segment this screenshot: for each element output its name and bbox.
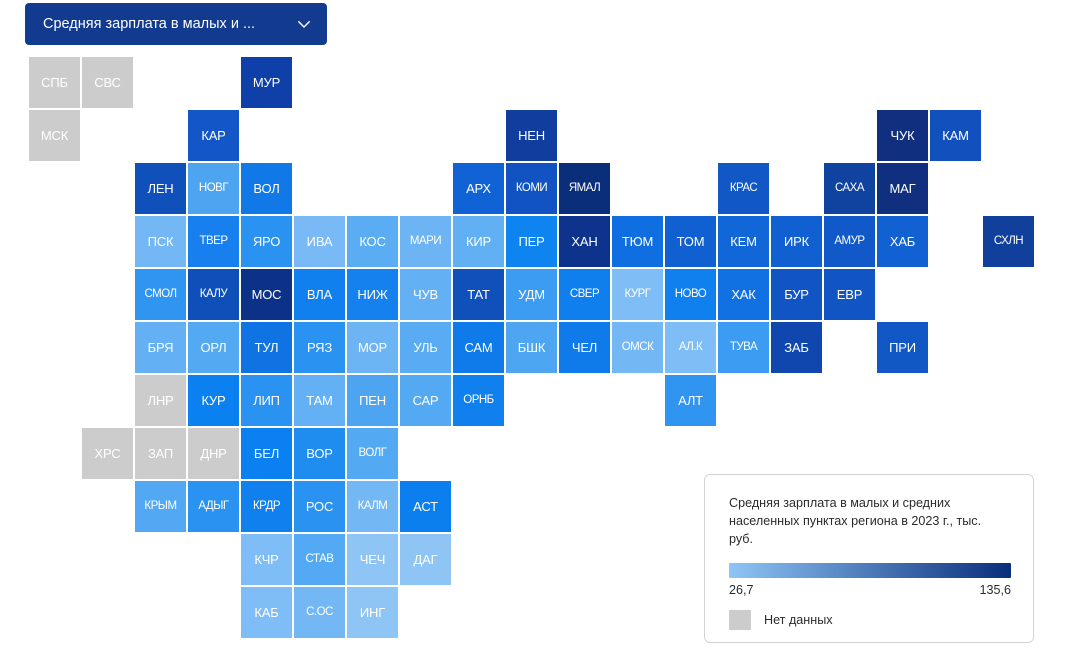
map-tile-label: ТВЕР: [199, 236, 227, 248]
map-tile-саха[interactable]: САХА: [824, 163, 875, 214]
map-tile-label: ДНР: [200, 447, 226, 460]
map-tile-label: ИРК: [784, 235, 809, 248]
map-tile-label: ЛЕН: [148, 182, 174, 195]
map-tile-label: АРХ: [466, 182, 491, 195]
map-tile-твер[interactable]: ТВЕР: [188, 216, 239, 267]
map-tile-том[interactable]: ТОМ: [665, 216, 716, 267]
map-tile-кос[interactable]: КОС: [347, 216, 398, 267]
map-tile-label: ВОЛ: [253, 182, 279, 195]
map-tile-label: С.ОС: [306, 607, 333, 619]
map-tile-мор[interactable]: МОР: [347, 322, 398, 373]
map-tile-калм[interactable]: КАЛМ: [347, 481, 398, 532]
map-tile-label: ТАТ: [467, 288, 490, 301]
map-tile-крас[interactable]: КРАС: [718, 163, 769, 214]
map-tile-при[interactable]: ПРИ: [877, 322, 928, 373]
map-tile-label: УДМ: [518, 288, 545, 301]
map-tile-label: СПБ: [41, 76, 68, 89]
map-tile-лип[interactable]: ЛИП: [241, 375, 292, 426]
map-tile-чук[interactable]: ЧУК: [877, 110, 928, 161]
map-tile-алк[interactable]: АЛ.К: [665, 322, 716, 373]
map-tile-свер[interactable]: СВЕР: [559, 269, 610, 320]
map-tile-label: СВС: [94, 76, 120, 89]
map-tile-label: МСК: [41, 129, 68, 142]
map-tile-пер[interactable]: ПЕР: [506, 216, 557, 267]
map-tile-хан[interactable]: ХАН: [559, 216, 610, 267]
map-tile-label: СТАВ: [306, 554, 334, 566]
map-tile-label: МАГ: [890, 182, 916, 195]
map-tile-калу[interactable]: КАЛУ: [188, 269, 239, 320]
map-tile-label: ЧЕЧ: [360, 553, 385, 566]
map-tile-label: ВЛА: [307, 288, 332, 301]
map-tile-label: ЗАБ: [784, 341, 808, 354]
map-tile-адыг[interactable]: АДЫГ: [188, 481, 239, 532]
map-tile-уль[interactable]: УЛЬ: [400, 322, 451, 373]
map-tile-вол[interactable]: ВОЛ: [241, 163, 292, 214]
map-tile-label: КОС: [359, 235, 385, 248]
map-tile-бур[interactable]: БУР: [771, 269, 822, 320]
map-tile-label: АДЫГ: [198, 501, 228, 513]
map-tile-label: БУР: [784, 288, 809, 301]
map-tile-label: ТЮМ: [622, 235, 653, 248]
map-tile-бря[interactable]: БРЯ: [135, 322, 186, 373]
map-tile-label: КРАС: [730, 183, 757, 195]
map-tile-удм[interactable]: УДМ: [506, 269, 557, 320]
map-tile-label: СМОЛ: [144, 289, 176, 301]
map-tile-орнб[interactable]: ОРНБ: [453, 375, 504, 426]
map-tile-label: КОМИ: [516, 183, 547, 195]
map-tile-коми[interactable]: КОМИ: [506, 163, 557, 214]
map-tile-label: КАБ: [254, 606, 278, 619]
map-tile-label: СХЛН: [994, 236, 1023, 248]
map-tile-амур[interactable]: АМУР: [824, 216, 875, 267]
map-tile-смол[interactable]: СМОЛ: [135, 269, 186, 320]
map-tile-бшк[interactable]: БШК: [506, 322, 557, 373]
map-tile-новг[interactable]: НОВГ: [188, 163, 239, 214]
map-tile-label: КАМ: [942, 129, 968, 142]
map-tile-пск[interactable]: ПСК: [135, 216, 186, 267]
map-tile-сос[interactable]: С.ОС: [294, 587, 345, 638]
map-tile-label: ИНГ: [360, 606, 385, 619]
map-tile-чув[interactable]: ЧУВ: [400, 269, 451, 320]
map-tile-схлн[interactable]: СХЛН: [983, 216, 1034, 267]
map-tile-label: ЧЕЛ: [572, 341, 597, 354]
map-tile-омск[interactable]: ОМСК: [612, 322, 663, 373]
map-tile-label: АСТ: [413, 500, 438, 513]
map-tile-label: КУРГ: [624, 289, 650, 301]
map-tile-label: ВОЛГ: [359, 448, 387, 460]
map-tile-label: КЧР: [254, 553, 278, 566]
map-tile-label: МОР: [358, 341, 387, 354]
map-tile-мари[interactable]: МАРИ: [400, 216, 451, 267]
map-tile-label: ЗАП: [148, 447, 173, 460]
map-tile-тат[interactable]: ТАТ: [453, 269, 504, 320]
map-tile-тува[interactable]: ТУВА: [718, 322, 769, 373]
map-tile-волг[interactable]: ВОЛГ: [347, 428, 398, 479]
map-tile-label: ЛИП: [253, 394, 280, 407]
map-tile-label: ЧУВ: [413, 288, 438, 301]
map-tile-label: ЯМАЛ: [569, 183, 600, 195]
map-tile-бел[interactable]: БЕЛ: [241, 428, 292, 479]
map-tile-ряз[interactable]: РЯЗ: [294, 322, 345, 373]
map-tile-вор[interactable]: ВОР: [294, 428, 345, 479]
map-tile-label: ИВА: [307, 235, 333, 248]
legend-gradient-bar: [729, 563, 1011, 578]
map-tile-кур[interactable]: КУР: [188, 375, 239, 426]
map-tile-евр[interactable]: ЕВР: [824, 269, 875, 320]
map-tile-маг[interactable]: МАГ: [877, 163, 928, 214]
map-tile-кем[interactable]: КЕМ: [718, 216, 769, 267]
map-tile-label: БРЯ: [148, 341, 174, 354]
map-tile-заб[interactable]: ЗАБ: [771, 322, 822, 373]
legend-min-value: 26,7: [729, 584, 754, 597]
map-tile-лен[interactable]: ЛЕН: [135, 163, 186, 214]
map-tile-label: САМ: [464, 341, 492, 354]
map-tile-мос[interactable]: МОС: [241, 269, 292, 320]
map-tile-label: МУР: [253, 76, 280, 89]
legend-title: Средняя зарплата в малых и средних насел…: [729, 495, 991, 549]
map-tile-label: ТУВА: [730, 342, 757, 354]
map-tile-label: МОС: [252, 288, 282, 301]
map-tile-хак[interactable]: ХАК: [718, 269, 769, 320]
map-tile-label: ХАН: [571, 235, 597, 248]
map-tile-спб[interactable]: СПБ: [29, 57, 80, 108]
map-tile-label: УЛЬ: [413, 341, 437, 354]
map-tile-кир[interactable]: КИР: [453, 216, 504, 267]
map-tile-label: АЛ.К: [679, 342, 702, 354]
map-tile-label: АМУР: [834, 236, 864, 248]
map-tile-label: ЛНР: [148, 394, 174, 407]
map-tile-рос[interactable]: РОС: [294, 481, 345, 532]
map-tile-тюм[interactable]: ТЮМ: [612, 216, 663, 267]
map-tile-кчр[interactable]: КЧР: [241, 534, 292, 585]
map-tile-там[interactable]: ТАМ: [294, 375, 345, 426]
map-tile-чеч[interactable]: ЧЕЧ: [347, 534, 398, 585]
map-tile-став[interactable]: СТАВ: [294, 534, 345, 585]
map-tile-алт[interactable]: АЛТ: [665, 375, 716, 426]
legend-no-data-row: Нет данных: [729, 610, 1009, 630]
map-tile-label: НОВО: [675, 289, 706, 301]
map-tile-label: ВОР: [306, 447, 332, 460]
map-tile-сар[interactable]: САР: [400, 375, 451, 426]
map-tile-label: КАЛУ: [200, 289, 227, 301]
map-tile-label: ТОМ: [677, 235, 705, 248]
map-tile-label: САХА: [835, 183, 864, 195]
legend-no-data-label: Нет данных: [764, 614, 833, 627]
map-tile-label: РЯЗ: [307, 341, 332, 354]
map-legend: Средняя зарплата в малых и средних насел…: [704, 474, 1034, 643]
map-tile-label: САР: [413, 394, 439, 407]
map-tile-label: ПЕР: [518, 235, 544, 248]
map-tile-свс[interactable]: СВС: [82, 57, 133, 108]
map-tile-label: ХАК: [731, 288, 755, 301]
map-tile-ирк[interactable]: ИРК: [771, 216, 822, 267]
map-tile-label: АЛТ: [678, 394, 703, 407]
map-tile-зап[interactable]: ЗАП: [135, 428, 186, 479]
map-tile-label: РОС: [306, 500, 333, 513]
map-tile-лнр[interactable]: ЛНР: [135, 375, 186, 426]
map-tile-ниж[interactable]: НИЖ: [347, 269, 398, 320]
map-tile-днр[interactable]: ДНР: [188, 428, 239, 479]
legend-scale: 26,7 135,6: [729, 584, 1011, 597]
map-tile-крдр[interactable]: КРДР: [241, 481, 292, 532]
map-tile-label: ДАГ: [414, 553, 438, 566]
map-tile-label: ХРС: [95, 447, 121, 460]
map-tile-label: ОРЛ: [201, 341, 227, 354]
map-tile-кам[interactable]: КАМ: [930, 110, 981, 161]
map-tile-арх[interactable]: АРХ: [453, 163, 504, 214]
map-tile-label: КЕМ: [730, 235, 756, 248]
map-tile-label: ЯРО: [253, 235, 280, 248]
map-tile-label: ПРИ: [889, 341, 916, 354]
map-tile-label: КРДР: [253, 501, 280, 513]
map-tile-крым[interactable]: КРЫМ: [135, 481, 186, 532]
map-tile-label: ЧУК: [891, 129, 915, 142]
map-tile-мск[interactable]: МСК: [29, 110, 80, 161]
map-tile-label: КИР: [466, 235, 491, 248]
map-tile-нен[interactable]: НЕН: [506, 110, 557, 161]
map-tile-вла[interactable]: ВЛА: [294, 269, 345, 320]
map-tile-label: МАРИ: [410, 236, 441, 248]
map-tile-ива[interactable]: ИВА: [294, 216, 345, 267]
map-tile-label: НОВГ: [199, 183, 228, 195]
map-tile-label: ПЕН: [359, 394, 386, 407]
map-tile-даг[interactable]: ДАГ: [400, 534, 451, 585]
map-tile-сам[interactable]: САМ: [453, 322, 504, 373]
map-tile-аст[interactable]: АСТ: [400, 481, 451, 532]
map-tile-label: БШК: [518, 341, 545, 354]
map-tile-label: СВЕР: [570, 289, 599, 301]
legend-max-value: 135,6: [979, 584, 1011, 597]
map-tile-label: КАЛМ: [358, 501, 388, 513]
map-tile-label: ЕВР: [837, 288, 862, 301]
map-tile-яро[interactable]: ЯРО: [241, 216, 292, 267]
map-tile-label: НИЖ: [357, 288, 387, 301]
map-tile-хаб[interactable]: ХАБ: [877, 216, 928, 267]
map-tile-label: ХАБ: [890, 235, 915, 248]
map-tile-инг[interactable]: ИНГ: [347, 587, 398, 638]
map-tile-каб[interactable]: КАБ: [241, 587, 292, 638]
map-tile-пен[interactable]: ПЕН: [347, 375, 398, 426]
map-tile-label: ТУЛ: [255, 341, 279, 354]
map-tile-кар[interactable]: КАР: [188, 110, 239, 161]
map-tile-орл[interactable]: ОРЛ: [188, 322, 239, 373]
map-tile-label: НЕН: [518, 129, 545, 142]
legend-no-data-swatch: [729, 610, 751, 630]
map-tile-тул[interactable]: ТУЛ: [241, 322, 292, 373]
map-tile-мур[interactable]: МУР: [241, 57, 292, 108]
map-tile-ямал[interactable]: ЯМАЛ: [559, 163, 610, 214]
map-tile-label: ТАМ: [306, 394, 332, 407]
map-tile-кург[interactable]: КУРГ: [612, 269, 663, 320]
map-tile-хрс[interactable]: ХРС: [82, 428, 133, 479]
map-tile-label: ПСК: [148, 235, 174, 248]
map-tile-label: ОРНБ: [463, 395, 493, 407]
map-tile-ново[interactable]: НОВО: [665, 269, 716, 320]
map-tile-label: КАР: [201, 129, 225, 142]
map-tile-label: КУР: [201, 394, 225, 407]
map-tile-label: БЕЛ: [254, 447, 279, 460]
map-tile-чел[interactable]: ЧЕЛ: [559, 322, 610, 373]
map-tile-label: КРЫМ: [144, 501, 176, 513]
map-tile-label: ОМСК: [622, 342, 654, 354]
